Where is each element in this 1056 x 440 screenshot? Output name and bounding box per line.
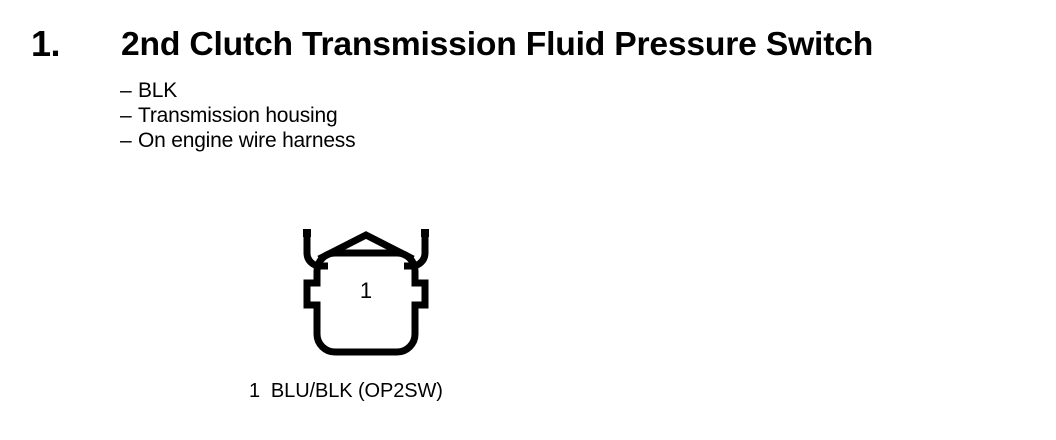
connector-diagram: 1: [292, 224, 440, 360]
list-item: – On engine wire harness: [120, 128, 720, 153]
dash-bullet-icon: –: [120, 78, 138, 103]
dash-bullet-icon: –: [120, 128, 138, 153]
list-item-label: On engine wire harness: [138, 128, 355, 153]
wiring-diagram-page: 1. 2nd Clutch Transmission Fluid Pressur…: [0, 0, 1056, 440]
list-item-label: BLK: [138, 78, 177, 103]
dash-bullet-icon: –: [120, 103, 138, 128]
heading: 1. 2nd Clutch Transmission Fluid Pressur…: [0, 22, 1056, 66]
list-item-label: Transmission housing: [138, 103, 337, 128]
connector-caption: 1 BLU/BLK (OP2SW): [249, 379, 443, 404]
list-item: – BLK: [120, 78, 720, 103]
list-item: – Transmission housing: [120, 103, 720, 128]
item-number: 1.: [31, 22, 60, 66]
cavity-number-label: 1: [292, 278, 440, 304]
attribute-list: – BLK – Transmission housing – On engine…: [120, 78, 720, 153]
page-title: 2nd Clutch Transmission Fluid Pressure S…: [121, 22, 873, 66]
